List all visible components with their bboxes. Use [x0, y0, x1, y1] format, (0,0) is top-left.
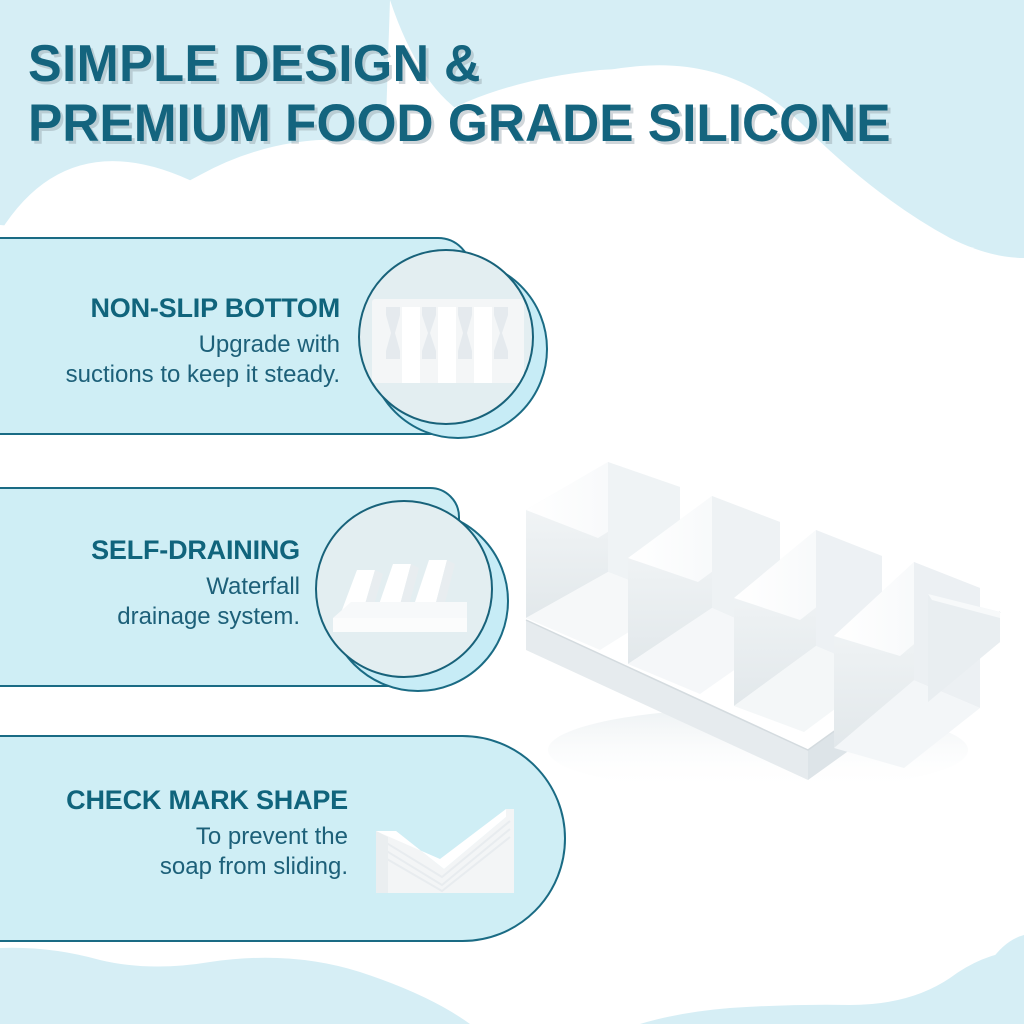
infographic-canvas: SIMPLE DESIGN & PREMIUM FOOD GRADE SILIC…: [0, 0, 1024, 1024]
feature-text-check-mark-shape: CHECK MARK SHAPE To prevent the soap fro…: [0, 784, 348, 882]
ring-inner-frame: [315, 500, 493, 678]
feature-title: NON-SLIP BOTTOM: [0, 292, 340, 324]
soap-dish-bottom-suction-cups-icon: [360, 251, 534, 425]
feature-body: To prevent the soap from sliding.: [0, 822, 348, 882]
soap-dish-drainage-ridges-icon: [317, 502, 493, 678]
feature-body: Upgrade with suctions to keep it steady.: [0, 330, 340, 390]
bottom-left-blob: [0, 948, 470, 1024]
ring-inner-frame: [358, 249, 534, 425]
headline-line-2: PREMIUM FOOD GRADE SILICONE: [28, 94, 959, 154]
thumbnail-ring-self-draining: [315, 500, 515, 690]
feature-text-non-slip-bottom: NON-SLIP BOTTOM Upgrade with suctions to…: [0, 292, 340, 390]
thumbnail-ring-non-slip-bottom: [358, 249, 548, 439]
hero-product-image: [508, 350, 1020, 820]
feature-title: CHECK MARK SHAPE: [0, 784, 348, 816]
feature-text-self-draining: SELF-DRAINING Waterfall drainage system.: [0, 534, 300, 632]
headline-line-1: SIMPLE DESIGN &: [28, 34, 959, 94]
feature-body: Waterfall drainage system.: [0, 572, 300, 632]
bottom-right-blob: [640, 935, 1024, 1024]
feature-title: SELF-DRAINING: [0, 534, 300, 566]
soap-dish-check-mark-profile-icon: [374, 797, 516, 897]
headline-block: SIMPLE DESIGN & PREMIUM FOOD GRADE SILIC…: [28, 34, 988, 154]
